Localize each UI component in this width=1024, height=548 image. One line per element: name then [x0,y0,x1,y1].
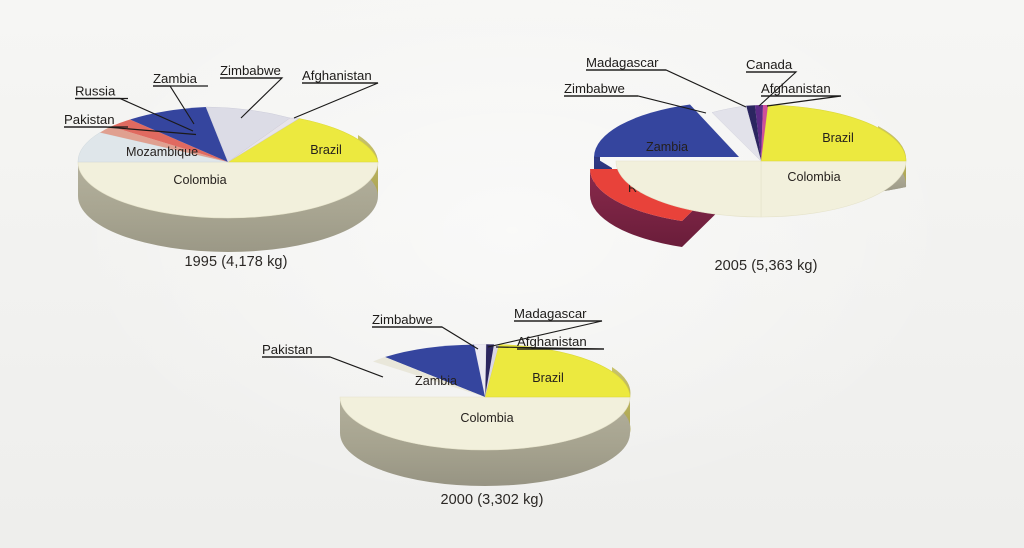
label-zambia-2005: Zambia [646,140,688,154]
label-brazil-2000: Brazil [532,371,564,385]
pie-chart-1995-svg: Pakistan Russia Zambia Zimbabwe Afghanis… [58,58,458,248]
pie-1995-top-face [78,107,378,218]
label-madagascar-2000: Madagascar [514,306,587,321]
pie-chart-2000-svg: Pakistan Zimbabwe Madagascar Afghanistan… [252,305,672,490]
label-brazil-2005: Brazil [822,131,854,145]
label-zimbabwe-2000: Zimbabwe [372,312,433,327]
pie-2000-top-face [340,344,630,450]
label-canada-2005: Canada [746,57,793,72]
label-zambia-1995: Zambia [153,71,198,86]
label-colombia-2000: Colombia [460,411,513,425]
label-colombia-1995: Colombia [173,173,226,187]
slice-zambia-2000[interactable] [385,345,485,397]
label-colombia-2005: Colombia [787,170,840,184]
pie-chart-1995: Pakistan Russia Zambia Zimbabwe Afghanis… [58,58,458,248]
label-zambia-2000: Zambia [415,374,457,388]
label-zimbabwe-1995: Zimbabwe [220,63,281,78]
label-afghanistan-1995: Afghanistan [302,68,372,83]
label-pakistan-2000: Pakistan [262,342,313,357]
label-madagascar-2005: Madagascar [586,55,659,70]
label-pakistan-1995: Pakistan [64,112,115,127]
label-afghanistan-2005: Afghanistan [761,81,831,96]
label-brazil-1995: Brazil [310,143,342,157]
leader-pakistan-2000 [262,357,383,377]
pie-chart-2000: Pakistan Zimbabwe Madagascar Afghanistan… [252,305,672,490]
leader-afghanistan-2005 [761,96,841,106]
label-afghanistan-2000: Afghanistan [517,334,587,349]
label-mozambique-1995: Mozambique [126,145,198,159]
label-zimbabwe-2005: Zimbabwe [564,81,625,96]
label-russia-1995: Russia [75,84,116,99]
leader-afghanistan-1995 [294,83,378,118]
caption-1995: 1995 (4,178 kg) [146,254,326,270]
caption-2000: 2000 (3,302 kg) [392,492,592,508]
pie-chart-2005-svg: Zambia Russia [556,56,966,256]
pie-chart-2005: Zambia Russia [556,56,966,256]
caption-2005: 2005 (5,363 kg) [666,258,866,274]
